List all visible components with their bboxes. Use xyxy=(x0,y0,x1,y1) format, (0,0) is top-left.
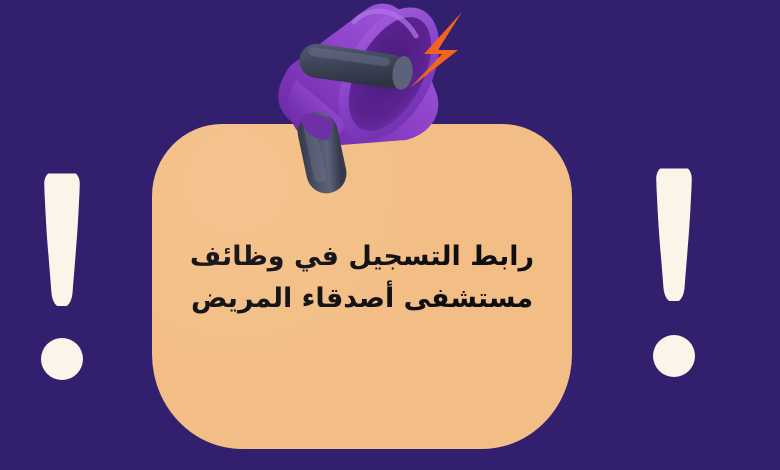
announcement-line-1: رابط التسجيل في وظائف xyxy=(174,236,550,278)
exclamation-dot-left xyxy=(41,338,83,380)
exclamation-mark-left xyxy=(22,168,102,388)
lightning-bolt-icon xyxy=(402,10,482,95)
exclamation-stem-left xyxy=(41,168,83,306)
announcement-line-2: مستشفى أصدقاء المريض xyxy=(174,278,550,320)
exclamation-dot-right xyxy=(653,335,695,377)
announcement-text: رابط التسجيل في وظائف مستشفى أصدقاء المر… xyxy=(152,236,572,320)
exclamation-stem-right xyxy=(653,163,695,301)
exclamation-mark-right xyxy=(634,163,714,385)
poster-canvas: رابط التسجيل في وظائف مستشفى أصدقاء المر… xyxy=(0,0,780,470)
